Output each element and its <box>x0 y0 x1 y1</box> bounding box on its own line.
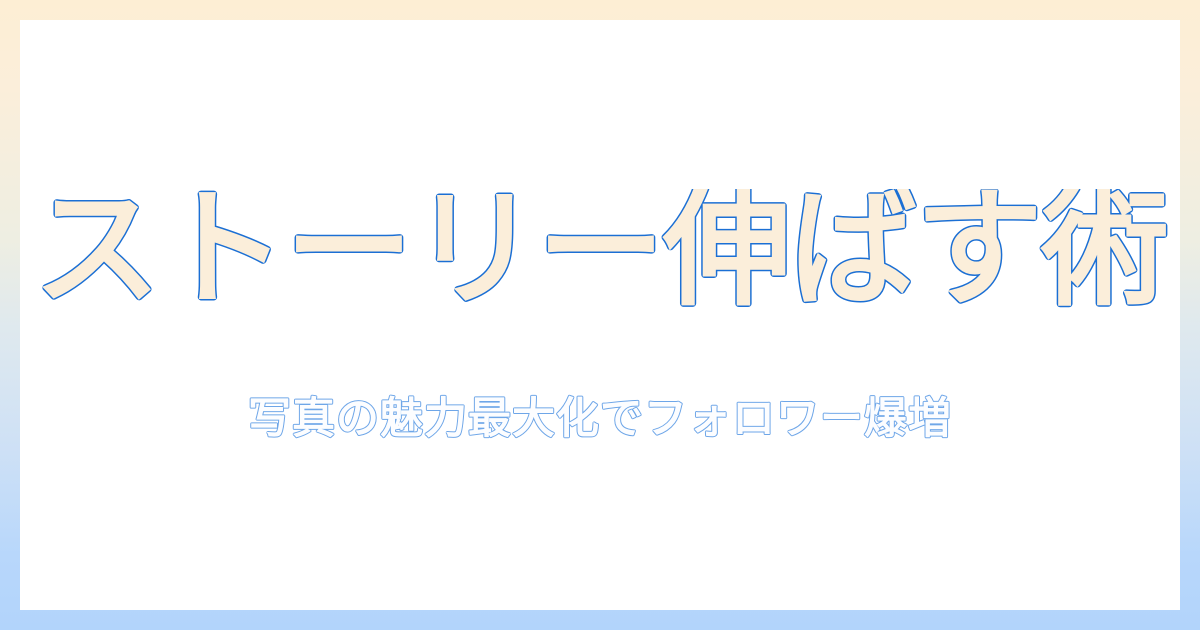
poster-panel: ストーリー伸ばす術 写真の魅力最大化でフォロワー爆増 <box>20 20 1180 610</box>
headline-svg: ストーリー伸ばす術 <box>20 189 1180 339</box>
subheadline-container: 写真の魅力最大化でフォロワー爆増 <box>20 385 1180 455</box>
page-title: ストーリー伸ばす術 <box>33 189 1167 324</box>
poster-content: ストーリー伸ばす術 写真の魅力最大化でフォロワー爆増 <box>20 20 1180 610</box>
subheadline-svg: 写真の魅力最大化でフォロワー爆増 <box>20 385 1180 455</box>
page-subtitle: 写真の魅力最大化でフォロワー爆増 <box>248 394 952 444</box>
headline-container: ストーリー伸ばす術 <box>20 189 1180 339</box>
poster-canvas: ストーリー伸ばす術 写真の魅力最大化でフォロワー爆増 <box>0 0 1200 630</box>
